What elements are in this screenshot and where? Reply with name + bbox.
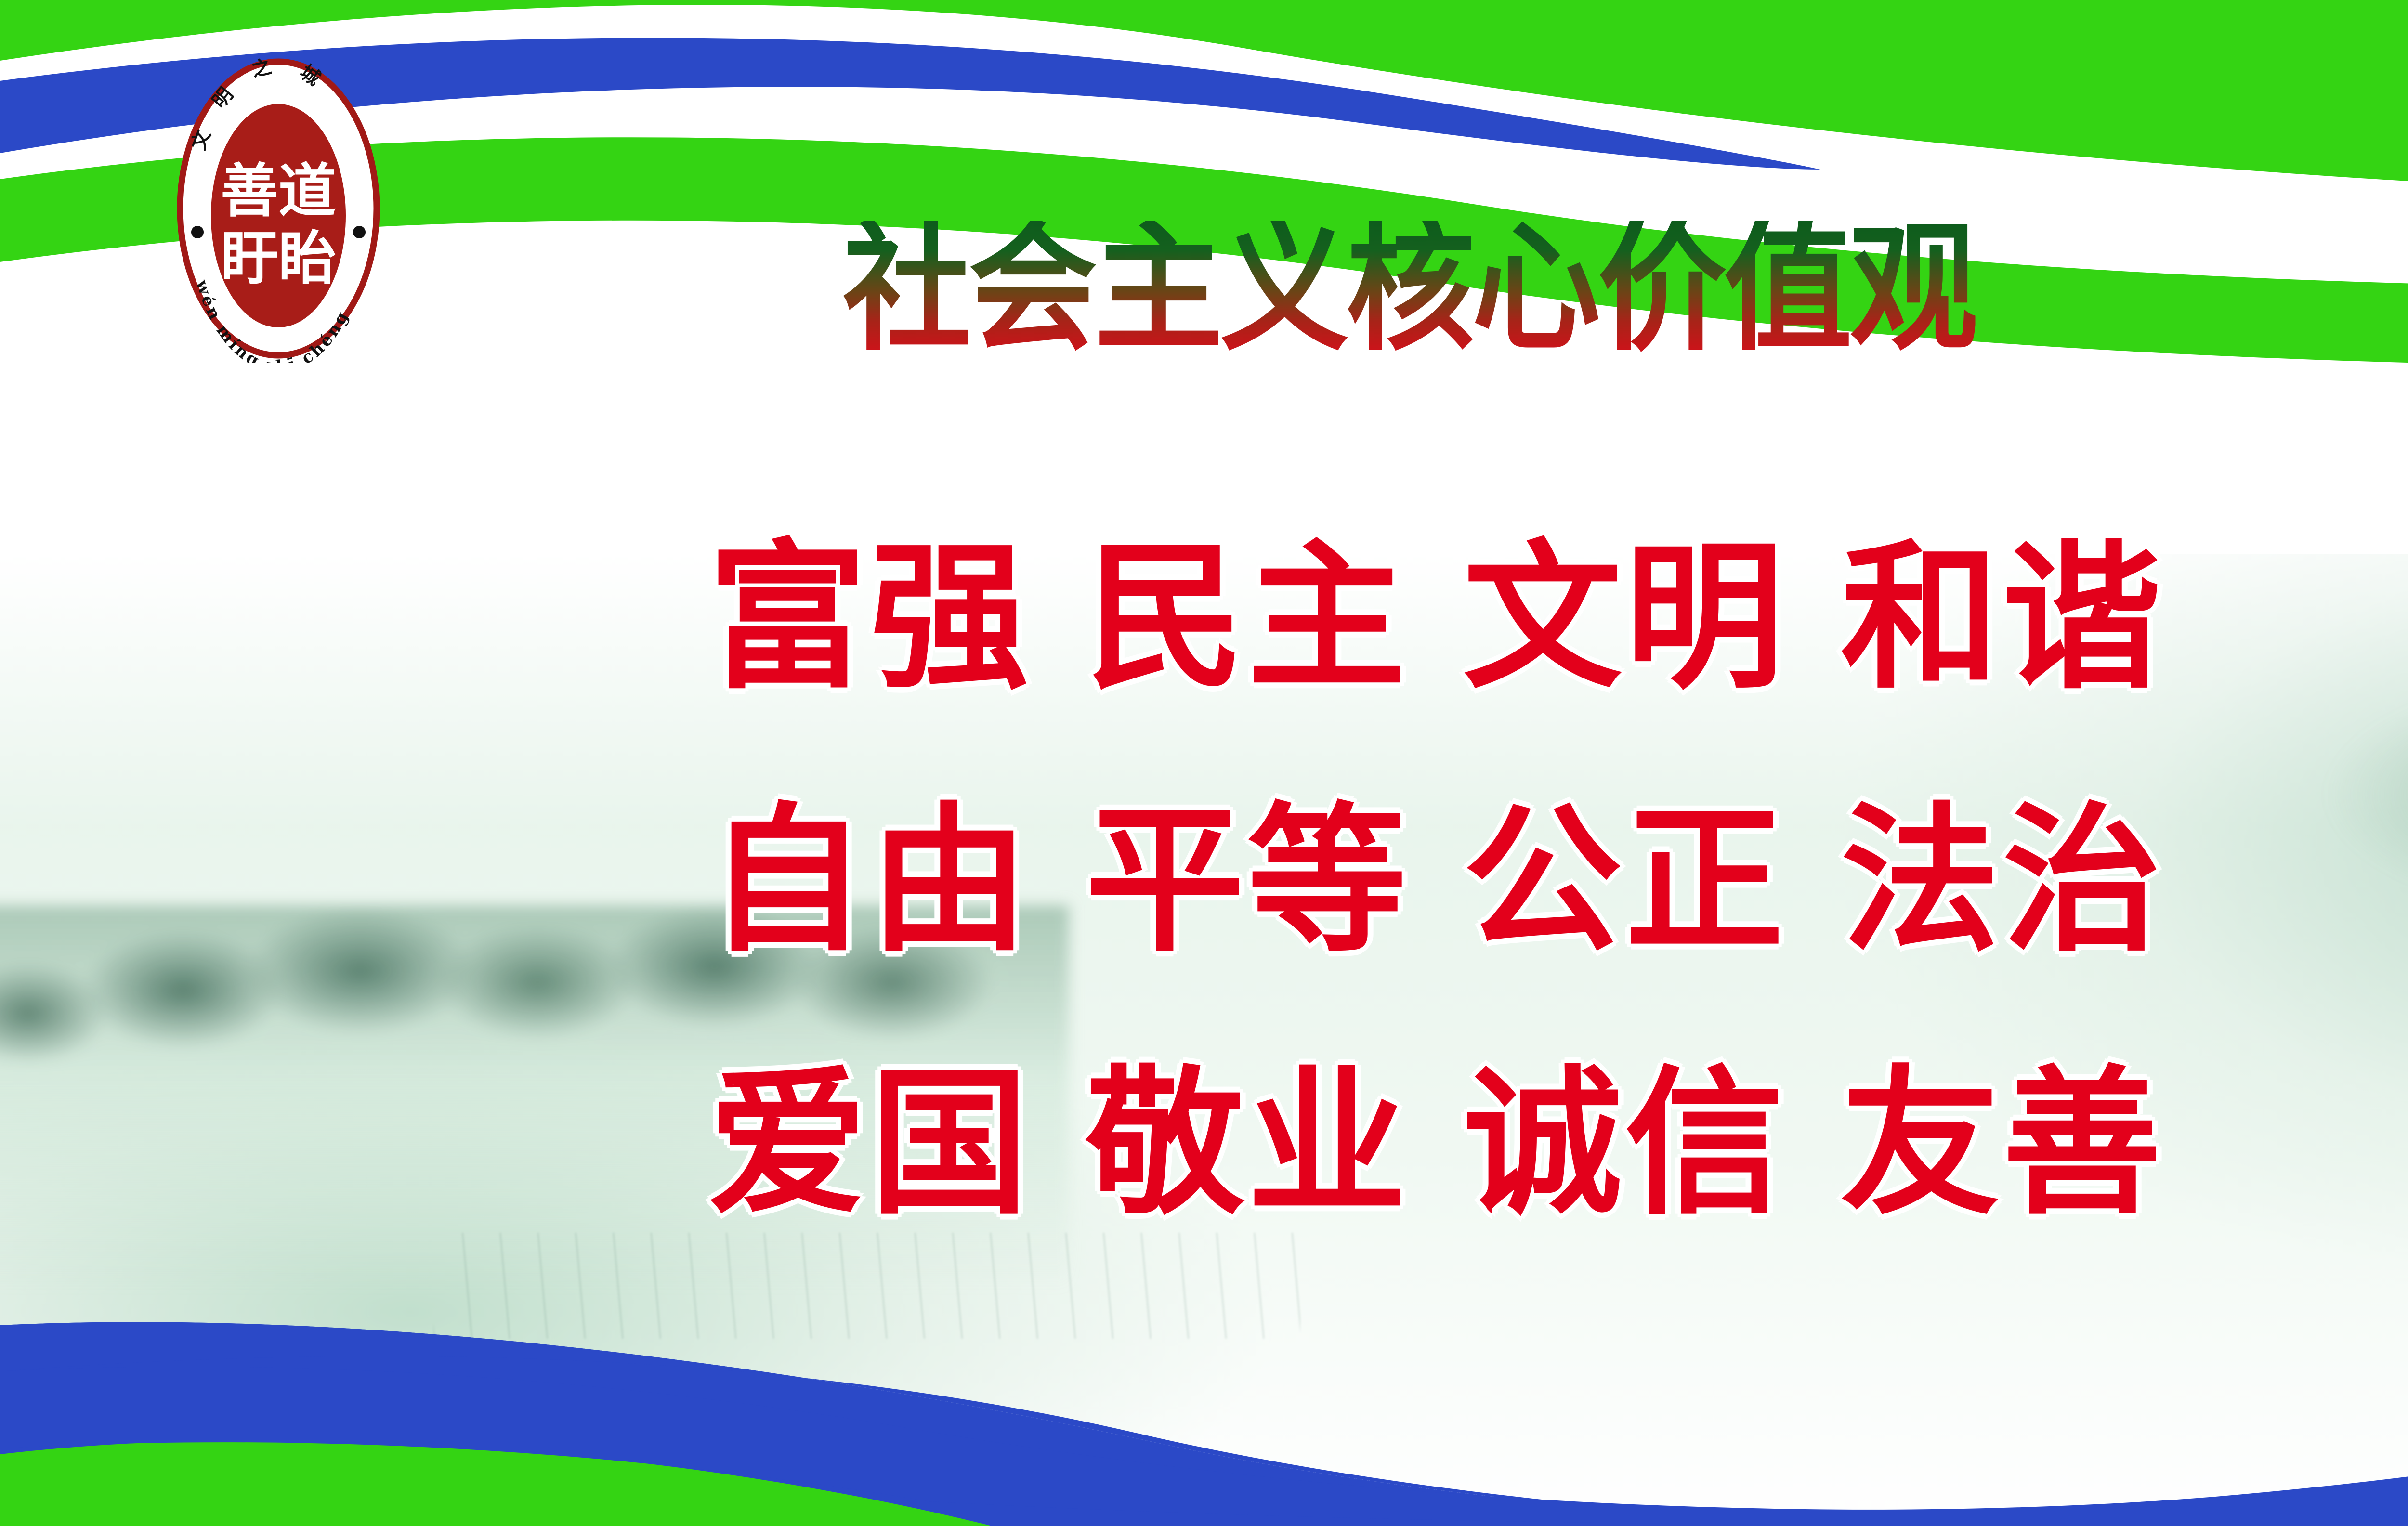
- core-value-word: 友善: [1841, 1064, 2164, 1223]
- core-value-word: 爱国: [708, 1064, 1086, 1223]
- city-emblem-logo: 文 明 之 城 wén míng zhī chéng 善道 盱眙: [168, 52, 389, 363]
- ribbon-blue-bottom-left: [0, 1322, 2023, 1526]
- emblem-svg: 文 明 之 城 wén míng zhī chéng 善道 盱眙: [168, 52, 389, 363]
- core-value-word: 富强: [708, 538, 1086, 697]
- core-value-word: 文明: [1463, 538, 1841, 697]
- ribbon-blue-bottom-left-edge: [0, 1322, 2023, 1526]
- core-value-word: 和谐: [1841, 538, 2164, 697]
- core-values-banner: 文 明 之 城 wén míng zhī chéng 善道 盱眙 社会主义核心价…: [0, 0, 2408, 1526]
- core-values-row: 富强 民主 文明 和谐: [708, 486, 2408, 749]
- core-value-word: 诚信: [1463, 1064, 1841, 1223]
- core-value-word: 自由: [708, 801, 1086, 960]
- core-value-word: 公正: [1463, 801, 1841, 960]
- emblem-center-line-1: 善道: [221, 158, 336, 225]
- core-value-word: 平等: [1086, 801, 1463, 960]
- core-values-row: 爱国 敬业 诚信 友善: [708, 1012, 2408, 1275]
- headline-text: 社会主义核心价值观: [843, 221, 1976, 357]
- core-values-list: 富强 民主 文明 和谐 自由 平等 公正 法治 爱国 敬业 诚信 友善: [708, 486, 2408, 1276]
- core-value-word: 法治: [1841, 801, 2164, 960]
- core-value-word: 敬业: [1086, 1064, 1463, 1223]
- core-value-word: 民主: [1086, 538, 1463, 697]
- emblem-dot-left: [191, 226, 204, 238]
- emblem-dot-right: [353, 226, 366, 238]
- headline: 社会主义核心价值观: [843, 219, 2408, 359]
- ribbon-green-bottom-left: [0, 1440, 992, 1526]
- core-values-row: 自由 平等 公正 法治: [708, 749, 2408, 1012]
- emblem-center-line-2: 盱眙: [221, 225, 336, 292]
- ribbon-blue-bottom-right: [0, 1269, 2408, 1526]
